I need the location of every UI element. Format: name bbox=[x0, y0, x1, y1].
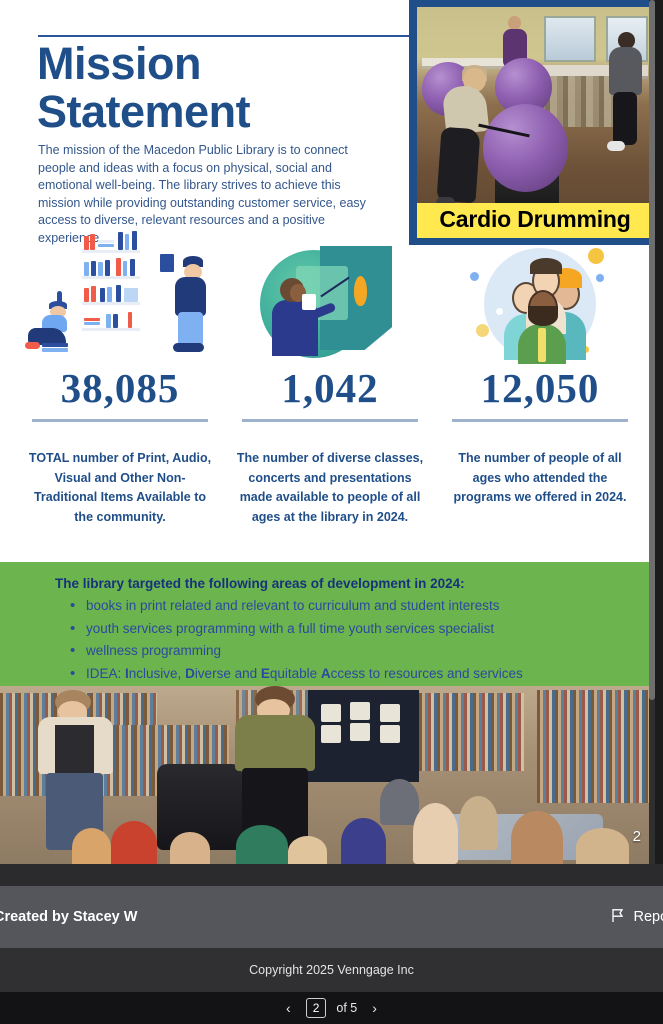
idea-e-rest: quitable bbox=[270, 666, 321, 681]
stat-divider bbox=[452, 419, 628, 422]
window-shape bbox=[544, 16, 596, 62]
development-bullet-list: books in print related and relevant to c… bbox=[70, 595, 655, 685]
development-heading: The library targeted the following areas… bbox=[55, 576, 655, 591]
cardio-drumming-photo: Cardio Drumming bbox=[409, 0, 655, 245]
stat-value: 1,042 bbox=[230, 365, 430, 411]
page-title-line2: Statement bbox=[37, 88, 407, 136]
stat-card-1: 38,085 TOTAL number of Print, Audio, Vis… bbox=[20, 240, 220, 527]
idea-d: D bbox=[185, 666, 195, 681]
mission-statement-text: The mission of the Macedon Public Librar… bbox=[38, 142, 383, 248]
idea-a: A bbox=[321, 666, 331, 681]
group-of-people-illustration bbox=[440, 240, 640, 365]
stat-value: 38,085 bbox=[20, 365, 220, 411]
report-button[interactable]: Report bbox=[611, 908, 663, 927]
stat-divider bbox=[242, 419, 418, 422]
statistics-row: 38,085 TOTAL number of Print, Audio, Vis… bbox=[0, 240, 655, 560]
page-title: Mission Statement bbox=[37, 40, 407, 136]
idea-a-rest: ccess to resources and services bbox=[331, 666, 523, 681]
idea-e: E bbox=[261, 666, 270, 681]
stat-value: 12,050 bbox=[440, 365, 640, 411]
bookshelf-illustration bbox=[20, 240, 220, 365]
chevron-left-icon[interactable]: ‹ bbox=[281, 998, 296, 1018]
list-item: wellness programming bbox=[70, 640, 655, 663]
photo-inner: Cardio Drumming bbox=[417, 7, 653, 238]
staff-member-left bbox=[33, 690, 118, 850]
page-number-watermark: 2 bbox=[633, 828, 641, 845]
stat-caption: The number of diverse classes, concerts … bbox=[230, 449, 430, 527]
page-scrollbar-thumb[interactable] bbox=[649, 0, 655, 700]
stat-card-2: 1,042 The number of diverse classes, con… bbox=[230, 240, 430, 527]
created-by-label: Created by Stacey W bbox=[0, 909, 137, 925]
idea-i-rest: nclusive, bbox=[129, 666, 185, 681]
idea-prefix: IDEA: bbox=[86, 666, 125, 681]
copyright-bar: Copyright 2025 Venngage Inc bbox=[0, 948, 663, 992]
pagination-bar: ‹ 2 of 5 › bbox=[0, 992, 663, 1024]
list-item-idea: IDEA: Inclusive, Diverse and Equitable A… bbox=[70, 663, 655, 686]
page-total-label: of 5 bbox=[336, 1001, 357, 1015]
viewer-gap-bar bbox=[0, 864, 663, 886]
stat-card-3: 12,050 The number of people of all ages … bbox=[440, 240, 640, 508]
report-label: Report bbox=[633, 909, 663, 925]
page-number-input[interactable]: 2 bbox=[306, 998, 327, 1018]
idea-d-rest: iverse and bbox=[195, 666, 261, 681]
presenter-illustration bbox=[230, 240, 430, 365]
app-root: Mission Statement The mission of the Mac… bbox=[0, 0, 663, 1024]
librarian-standing bbox=[229, 686, 321, 850]
page-title-line1: Mission bbox=[37, 40, 407, 88]
standing-person bbox=[606, 32, 646, 152]
stat-caption: The number of people of all ages who att… bbox=[440, 449, 640, 508]
infographic-page: Mission Statement The mission of the Mac… bbox=[0, 0, 655, 866]
copyright-label: Copyright 2025 Venngage Inc bbox=[249, 963, 414, 977]
chevron-right-icon[interactable]: › bbox=[367, 998, 382, 1018]
library-storytime-photo: 2 bbox=[0, 686, 655, 864]
stat-divider bbox=[32, 419, 208, 422]
credit-bar: Created by Stacey W Report bbox=[0, 886, 663, 948]
drumming-person bbox=[436, 65, 493, 208]
title-top-rule bbox=[38, 35, 409, 37]
list-item: books in print related and relevant to c… bbox=[70, 595, 655, 618]
development-areas-section: The library targeted the following areas… bbox=[0, 562, 655, 686]
page-scrollbar-track[interactable] bbox=[649, 0, 655, 866]
list-item: youth services programming with a full t… bbox=[70, 618, 655, 641]
stat-caption: TOTAL number of Print, Audio, Visual and… bbox=[20, 449, 220, 527]
photo-caption-label: Cardio Drumming bbox=[417, 203, 653, 238]
exercise-ball-3 bbox=[483, 104, 568, 192]
flag-icon bbox=[611, 908, 625, 927]
